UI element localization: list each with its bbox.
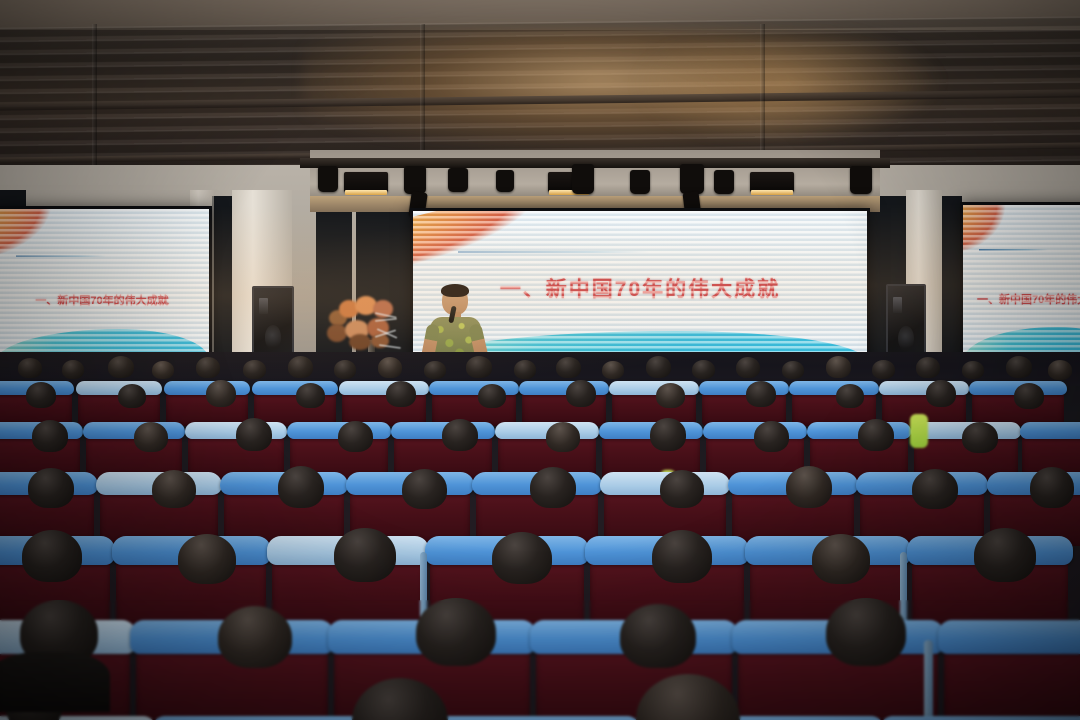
left-projection-screen[interactable]: 一、新中国70年的伟大成就 [0, 206, 212, 366]
stage-lighting-truss [300, 152, 890, 208]
audience-head [782, 361, 804, 379]
audience-head [28, 468, 74, 508]
audience-head [22, 530, 82, 582]
audience-head [912, 469, 958, 509]
audience-head [152, 361, 174, 379]
floral-arrangement [325, 294, 417, 350]
audience-head [514, 360, 536, 379]
audience-head [1048, 360, 1072, 380]
audience-head [656, 383, 685, 408]
audience-head [602, 361, 624, 379]
audience-head [152, 470, 196, 508]
audience-head [566, 380, 596, 407]
seat-headrest [609, 381, 698, 395]
seat-headrest [879, 716, 1080, 720]
audience-head [916, 357, 940, 378]
audience-head [872, 360, 895, 379]
audience-head [660, 470, 704, 508]
audience-head [1006, 356, 1032, 378]
audience-head [962, 422, 998, 453]
audience-head [386, 381, 416, 407]
audience-head [296, 383, 325, 408]
audience-bright-shirt [910, 414, 928, 448]
truss-bar [300, 158, 890, 168]
seat-headrest [1020, 422, 1080, 440]
audience-head [478, 384, 506, 408]
audience-head [243, 360, 266, 379]
audience-head [18, 358, 42, 378]
seat-headrest [252, 381, 339, 395]
flower-cluster [327, 324, 347, 342]
audience-head [26, 382, 56, 408]
audience-head [402, 469, 447, 509]
audience-head [118, 384, 146, 408]
audience-head [424, 361, 446, 379]
audience-head [288, 356, 313, 378]
spotlight-fixture [572, 164, 594, 194]
spotlight-fixture [404, 166, 426, 194]
audience-head [974, 528, 1036, 582]
audience-head [1030, 467, 1074, 508]
audience-head [378, 357, 402, 378]
leaf-spray [379, 344, 401, 349]
audience-head [826, 356, 851, 378]
audience-head [646, 356, 671, 378]
spotlight-fixture [630, 170, 650, 194]
leaf-spray [375, 318, 397, 322]
seated-audience [0, 352, 1080, 720]
spotlight-fixture [850, 166, 872, 194]
spotlight-fixture [714, 170, 734, 194]
audience-head [836, 384, 864, 408]
pa-tweeter [893, 297, 902, 314]
pa-tweeter [259, 298, 268, 314]
spotlight-lens [751, 190, 793, 195]
pa-woofer [265, 325, 282, 349]
audience-head [546, 422, 580, 452]
audience-head [236, 418, 272, 451]
auditorium-scene: 一、新中国70年的伟大成就 一、新中国70年的伟大成就 一、新中国70年的伟大 [0, 0, 1080, 720]
spotlight-fixture [680, 164, 704, 194]
screen-scanlines [0, 209, 209, 363]
audience-head [442, 419, 478, 451]
audience-head [926, 380, 956, 407]
pa-woofer [898, 326, 914, 352]
audience-head [196, 357, 220, 378]
audience-head [278, 466, 324, 508]
left-screen-surface: 一、新中国70年的伟大成就 [0, 209, 209, 363]
audience-head [736, 357, 760, 378]
audience-shoulders [0, 652, 110, 712]
presenter-hair [441, 284, 469, 297]
audience-head [692, 360, 715, 379]
audience-head [556, 357, 581, 378]
audience-head [826, 598, 906, 666]
right-projection-screen[interactable]: 一、新中国70年的伟大 [960, 202, 1080, 364]
seat-headrest [789, 381, 878, 395]
audience-head [218, 606, 292, 668]
audience-head [134, 422, 168, 452]
audience-head [178, 534, 236, 584]
audience-head [620, 604, 696, 668]
seat[interactable] [944, 632, 1080, 720]
audience-head [652, 530, 712, 583]
audience-head [62, 360, 84, 379]
spotlight-fixture [318, 166, 338, 192]
right-screen-surface: 一、新中国70年的伟大 [963, 205, 1080, 361]
audience-head [206, 380, 236, 407]
spotlight-fixture [448, 168, 468, 192]
audience-head [1014, 383, 1044, 409]
screen-scanlines [963, 205, 1080, 361]
spotlight-fixture [496, 170, 514, 192]
seat-headrest [938, 620, 1080, 654]
audience-head [32, 420, 68, 452]
audience-head [466, 356, 492, 378]
spotlight-lens [345, 190, 387, 195]
audience-head [754, 421, 789, 452]
audience-head [530, 467, 576, 508]
audience-head [492, 532, 552, 584]
spotlight-fixture [750, 172, 794, 192]
audience-head [650, 418, 686, 451]
wall-panel-dark [212, 196, 232, 372]
audience-head [786, 466, 832, 508]
flower-cluster [349, 334, 371, 350]
audience-head [812, 534, 870, 584]
audience-head [334, 360, 356, 379]
pa-speaker-left [252, 286, 294, 362]
audience-head [962, 361, 984, 379]
audience-head [338, 421, 373, 452]
seat-armrest [924, 640, 933, 720]
spotlight-fixture [344, 172, 388, 192]
audience-head [108, 356, 134, 378]
audience-head [334, 528, 396, 582]
audience-head [746, 381, 776, 407]
audience-head [858, 419, 894, 451]
audience-head [416, 598, 496, 666]
